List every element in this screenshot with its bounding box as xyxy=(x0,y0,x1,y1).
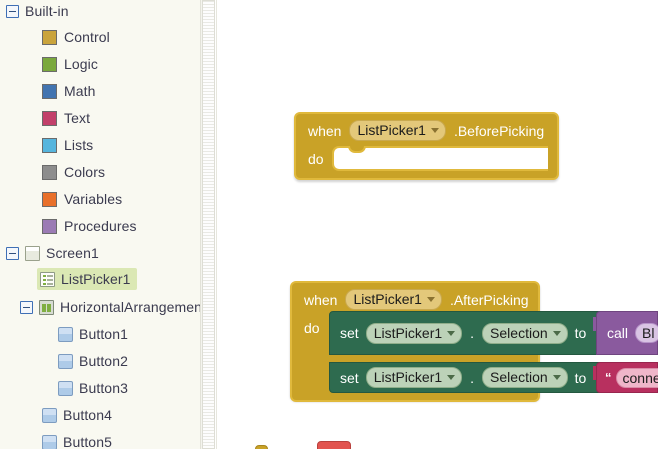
tree-item-button5[interactable]: Button5 xyxy=(42,431,112,449)
category-color-swatch xyxy=(42,192,57,207)
tree-item-horizontalarrangement1[interactable]: HorizontalArrangement1 xyxy=(20,296,200,318)
palette-category-label: Logic xyxy=(64,53,98,75)
palette-category-label: Lists xyxy=(64,134,93,156)
to-label: to xyxy=(575,371,587,385)
chevron-down-icon xyxy=(431,128,439,133)
tree-item-label: Screen1 xyxy=(46,242,99,264)
collapse-minus-icon[interactable] xyxy=(20,301,33,314)
tree-item-label: HorizontalArrangement1 xyxy=(60,296,200,318)
chevron-down-icon xyxy=(427,297,435,302)
chevron-down-icon xyxy=(553,375,561,380)
category-color-swatch xyxy=(42,84,57,99)
tree-item-button3[interactable]: Button3 xyxy=(58,377,128,399)
event-block-footer xyxy=(290,393,540,402)
tree-item-label: ListPicker1 xyxy=(61,268,131,290)
tree-item-label: Button4 xyxy=(63,404,112,426)
listpicker-icon xyxy=(40,272,55,287)
collapse-minus-icon[interactable] xyxy=(6,247,19,260)
palette-category-label: Text xyxy=(64,107,90,129)
event-block-header: when ListPicker1 .BeforePicking xyxy=(296,114,557,145)
blocks-editor: Built-in Control Logic Math Text Lists C… xyxy=(0,0,658,449)
to-label: to xyxy=(575,326,587,340)
button-icon xyxy=(42,408,57,423)
text-field-value[interactable]: conne xyxy=(616,368,658,388)
blocks-palette-panel: Built-in Control Logic Math Text Lists C… xyxy=(0,0,200,449)
do-label: do xyxy=(304,314,320,339)
palette-category-label: Variables xyxy=(64,188,122,210)
palette-category-logic[interactable]: Logic xyxy=(42,53,98,75)
tree-item-button1[interactable]: Button1 xyxy=(58,323,128,345)
block-text-string[interactable]: “ conne xyxy=(596,362,658,393)
event-name-label: .BeforePicking xyxy=(454,124,544,138)
property-dropdown-value: Selection xyxy=(490,325,548,341)
component-dropdown-value: ListPicker1 xyxy=(357,122,425,138)
palette-category-variables[interactable]: Variables xyxy=(42,188,122,210)
horizontal-arrangement-icon xyxy=(39,300,54,315)
partial-block-red[interactable] xyxy=(317,441,351,449)
tree-item-label: Button2 xyxy=(79,350,128,372)
component-dropdown-value: ListPicker1 xyxy=(374,325,442,341)
socket-notch xyxy=(348,146,366,153)
component-dropdown[interactable]: ListPicker1 xyxy=(366,323,462,344)
block-call-bluetooth[interactable]: call Bl xyxy=(596,311,658,355)
palette-category-colors[interactable]: Colors xyxy=(42,161,105,183)
chevron-down-icon xyxy=(553,331,561,336)
do-label: do xyxy=(308,145,324,170)
button-icon xyxy=(58,381,73,396)
property-dropdown[interactable]: Selection xyxy=(482,367,568,388)
category-color-swatch xyxy=(42,111,57,126)
event-block-header: when ListPicker1 .AfterPicking xyxy=(292,283,538,314)
set-label: set xyxy=(340,326,359,340)
tree-item-label: Button1 xyxy=(79,323,128,345)
category-color-swatch xyxy=(42,219,57,234)
when-label: when xyxy=(304,293,337,307)
call-label: call xyxy=(607,326,628,340)
collapse-minus-icon[interactable] xyxy=(6,5,19,18)
partial-block-olive[interactable] xyxy=(255,445,268,449)
chevron-down-icon xyxy=(447,331,455,336)
dot-separator: . xyxy=(469,370,475,386)
when-label: when xyxy=(308,124,341,138)
button-icon xyxy=(42,435,57,449)
palette-category-lists[interactable]: Lists xyxy=(42,134,93,156)
palette-scrollbar-thumb[interactable] xyxy=(202,0,215,449)
property-dropdown[interactable]: Selection xyxy=(482,323,568,344)
tree-item-label: Button3 xyxy=(79,377,128,399)
chevron-down-icon xyxy=(447,375,455,380)
component-dropdown[interactable]: ListPicker1 xyxy=(349,120,445,141)
tree-item-label: Built-in xyxy=(25,0,69,22)
blocks-workspace[interactable]: when ListPicker1 .BeforePicking do when … xyxy=(217,0,658,449)
palette-category-procedures[interactable]: Procedures xyxy=(42,215,137,237)
dot-separator: . xyxy=(469,325,475,341)
category-color-swatch xyxy=(42,57,57,72)
palette-category-label: Control xyxy=(64,26,110,48)
palette-category-label: Procedures xyxy=(64,215,137,237)
event-block-body: do xyxy=(296,145,557,171)
component-dropdown-value: ListPicker1 xyxy=(374,369,442,385)
block-when-listpicker1-beforepicking[interactable]: when ListPicker1 .BeforePicking do xyxy=(294,112,559,180)
tree-item-button4[interactable]: Button4 xyxy=(42,404,112,426)
palette-category-control[interactable]: Control xyxy=(42,26,110,48)
tree-item-screen1[interactable]: Screen1 xyxy=(6,242,99,264)
set-label: set xyxy=(340,371,359,385)
category-color-swatch xyxy=(42,30,57,45)
category-color-swatch xyxy=(42,138,57,153)
screen-icon xyxy=(25,246,40,261)
palette-scrollbar[interactable] xyxy=(200,0,215,449)
button-icon xyxy=(58,327,73,342)
component-dropdown-value: ListPicker1 xyxy=(353,291,421,307)
button-icon xyxy=(58,354,73,369)
tree-item-built-in[interactable]: Built-in xyxy=(6,0,69,22)
palette-category-label: Math xyxy=(64,80,96,102)
component-dropdown[interactable]: ListPicker1 xyxy=(366,367,462,388)
open-quote-icon: “ xyxy=(605,370,612,385)
empty-statement-socket[interactable] xyxy=(332,146,548,171)
category-color-swatch xyxy=(42,165,57,180)
event-name-label: .AfterPicking xyxy=(450,293,529,307)
palette-category-text[interactable]: Text xyxy=(42,107,90,129)
palette-category-label: Colors xyxy=(64,161,105,183)
component-dropdown-value: Bl xyxy=(635,323,658,343)
tree-item-button2[interactable]: Button2 xyxy=(58,350,128,372)
component-dropdown[interactable]: ListPicker1 xyxy=(345,289,441,310)
property-dropdown-value: Selection xyxy=(490,369,548,385)
tree-item-label: Button5 xyxy=(63,431,112,449)
palette-category-math[interactable]: Math xyxy=(42,80,96,102)
tree-item-listpicker1[interactable]: ListPicker1 xyxy=(37,268,137,290)
